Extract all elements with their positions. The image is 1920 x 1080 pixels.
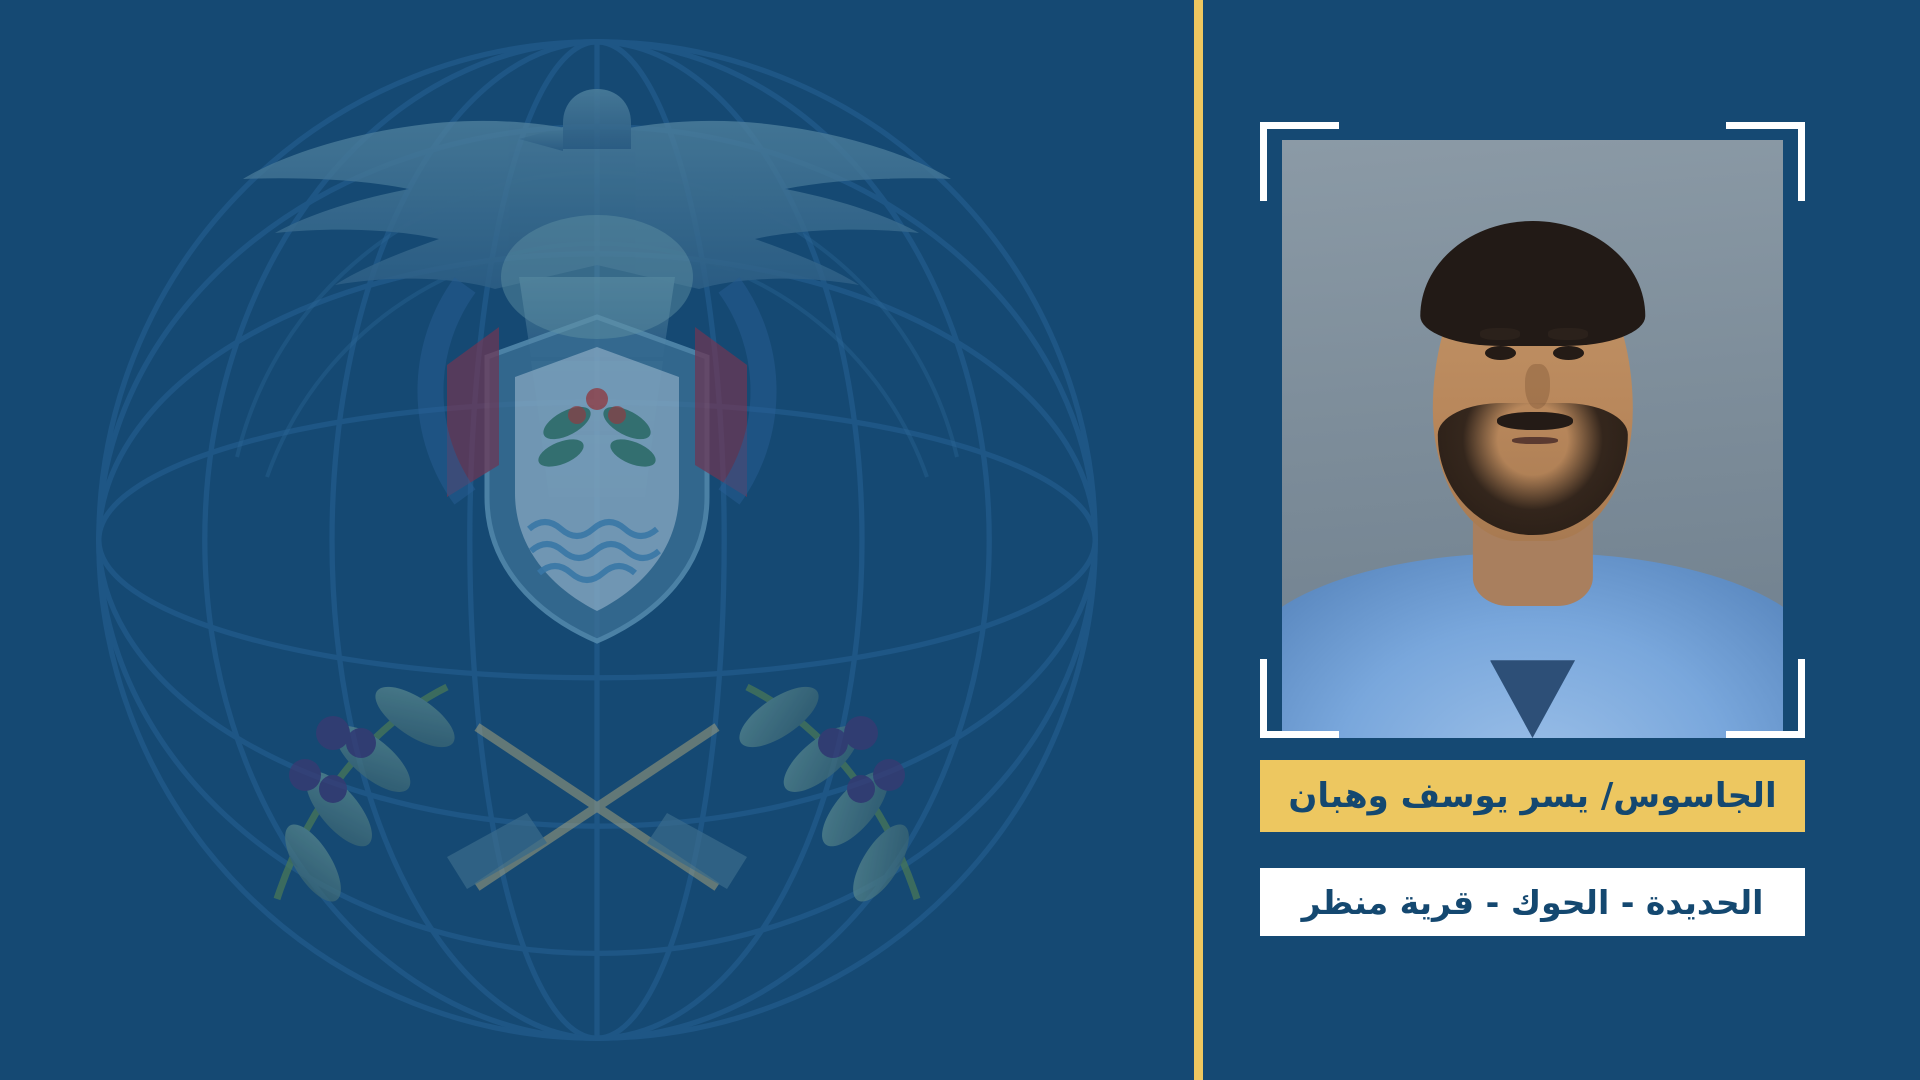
frame-corner-top-right-icon <box>1726 122 1805 201</box>
gold-vertical-divider <box>1194 0 1203 1080</box>
name-plate-label: الجاسوس/ يسر يوسف وهبان <box>1288 776 1776 816</box>
location-plate: الحديدة - الحوك - قرية منظر <box>1260 868 1805 936</box>
portrait-frame <box>1260 140 1805 738</box>
announcement-card: الجاسوس/ يسر يوسف وهبان الحديدة - الحوك … <box>0 0 1920 1080</box>
frame-corner-bottom-right-icon <box>1726 659 1805 738</box>
name-plate: الجاسوس/ يسر يوسف وهبان <box>1260 760 1805 832</box>
detainee-portrait-photo <box>1282 140 1783 738</box>
left-text-panel <box>0 0 1194 1080</box>
frame-corner-top-left-icon <box>1260 122 1339 201</box>
republic-emblem-watermark-icon <box>147 27 1047 967</box>
location-plate-label: الحديدة - الحوك - قرية منظر <box>1302 883 1764 922</box>
globe-watermark-icon <box>67 10 1127 1070</box>
frame-corner-bottom-left-icon <box>1260 659 1339 738</box>
announcement-text-block <box>34 186 1154 246</box>
right-profile-panel: الجاسوس/ يسر يوسف وهبان الحديدة - الحوك … <box>1203 0 1920 1080</box>
